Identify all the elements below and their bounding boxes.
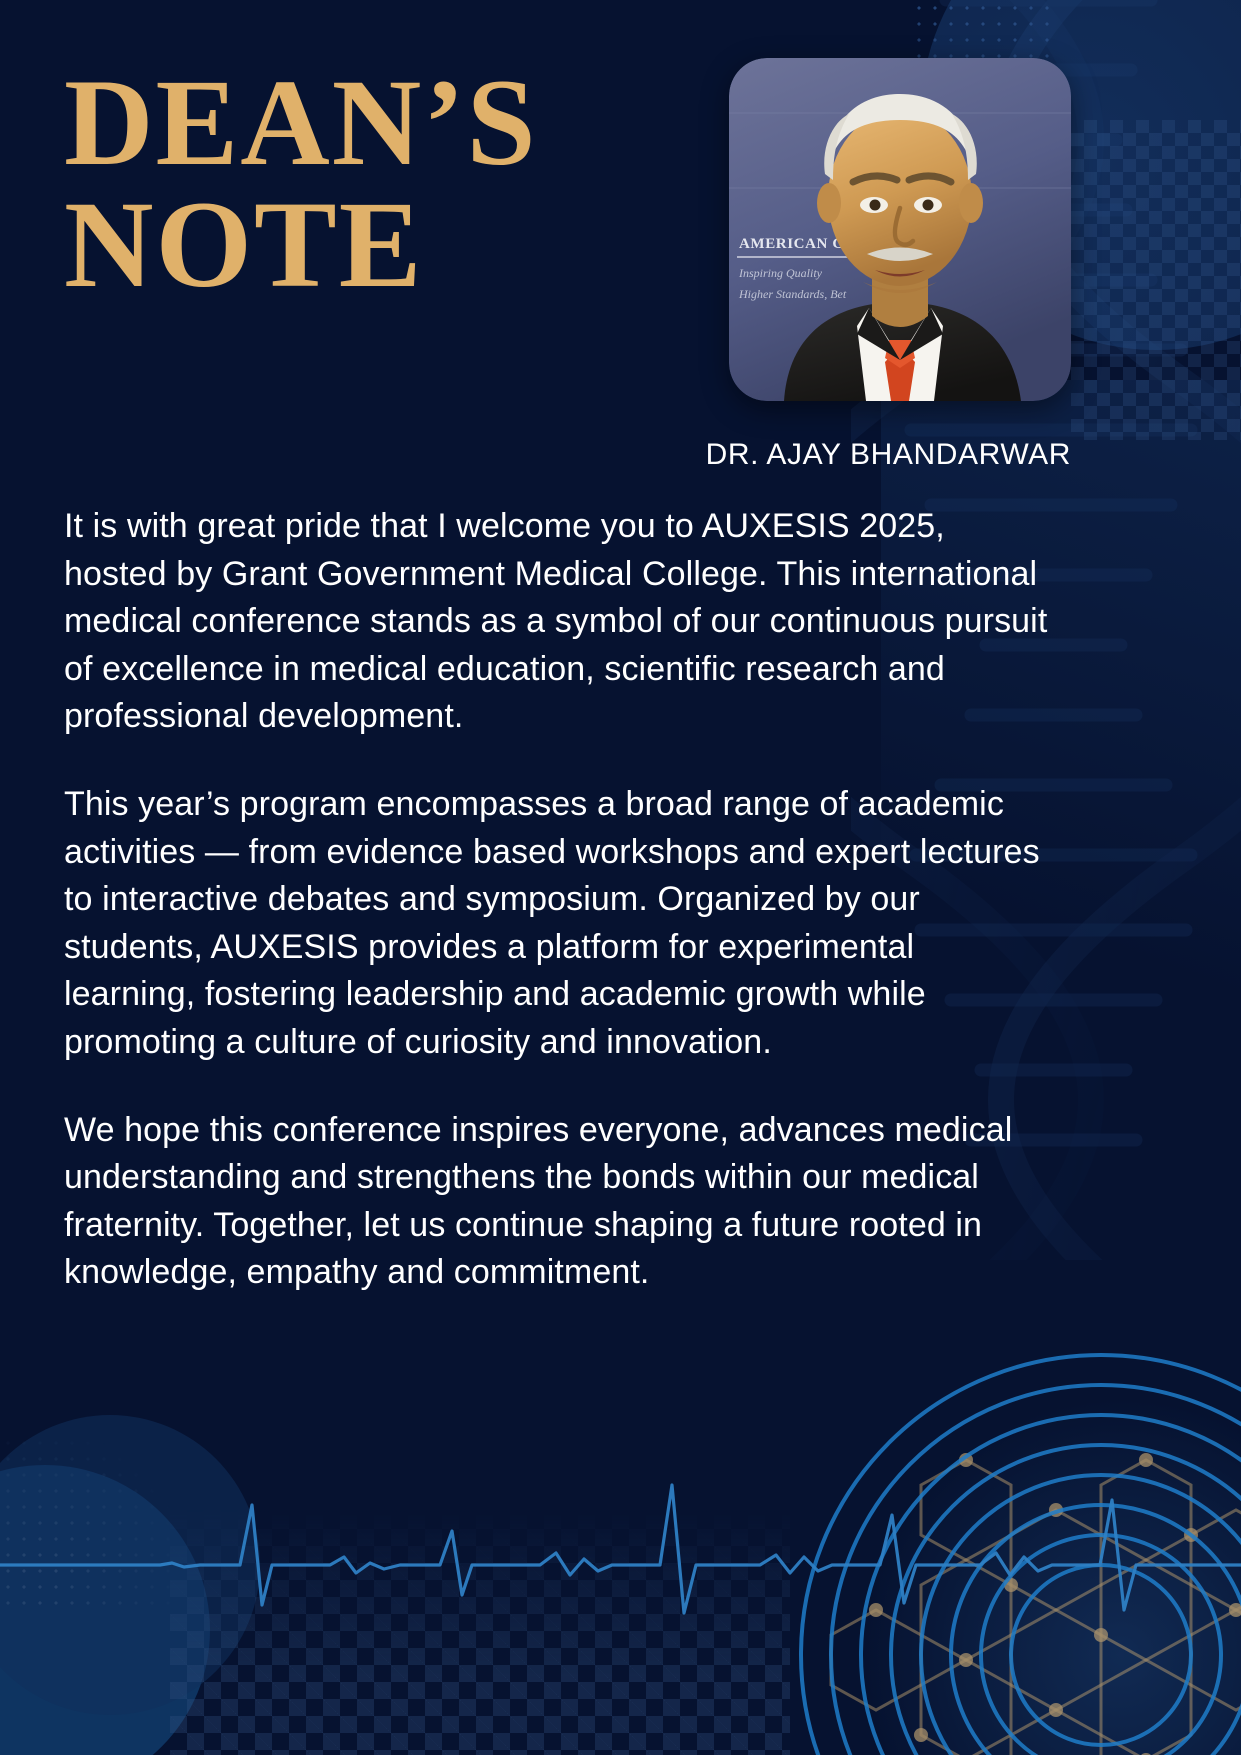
poster-content: DEAN’S NOTE (0, 0, 1241, 1755)
svg-text:Inspiring Quality: Inspiring Quality (738, 266, 823, 280)
paragraph-2: This year’s program encompasses a broad … (64, 781, 1049, 1067)
title-block: DEAN’S NOTE (64, 62, 704, 305)
deans-note-body: It is with great pride that I welcome yo… (64, 503, 1049, 1297)
paragraph-1: It is with great pride that I welcome yo… (64, 503, 1049, 741)
dean-name-label: DR. AJAY BHANDARWAR (0, 438, 1071, 472)
deans-note-poster: DEAN’S NOTE (0, 0, 1241, 1755)
page-title: DEAN’S NOTE (64, 62, 704, 305)
paragraph-3: We hope this conference inspires everyon… (64, 1107, 1049, 1297)
svg-text:Higher Standards, Bet: Higher Standards, Bet (738, 287, 847, 301)
portrait-photo-dr-ajay-bhandarwar: AMERICAN COLL Inspiring Quality Higher S… (729, 58, 1071, 401)
